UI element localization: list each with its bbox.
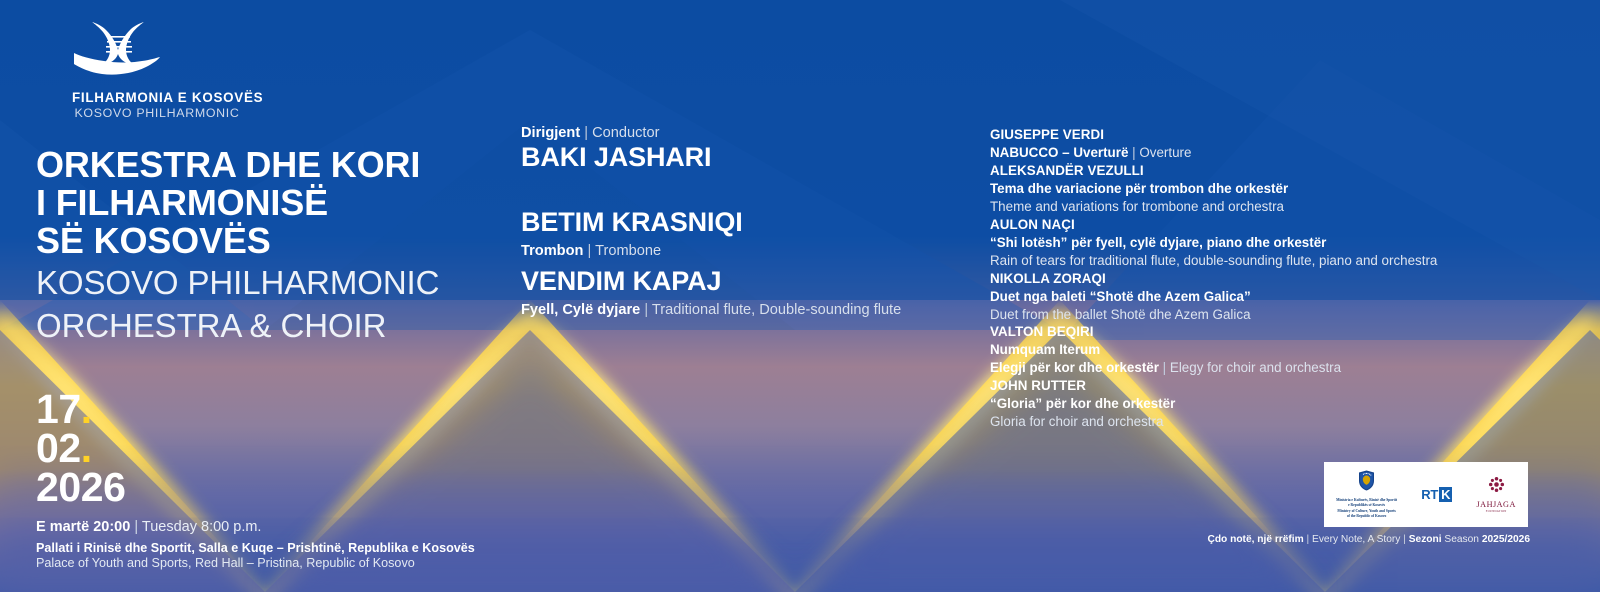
tagline-season-label: Sezoni	[1409, 534, 1442, 545]
program-composer-1: ALEKSANDËR VEZULLI	[990, 162, 1570, 180]
program-item: NIKOLLA ZORAQI Duet nga baleti “Shotë dh…	[990, 270, 1570, 324]
program-work-en-inline-0: Overture	[1139, 145, 1191, 160]
sponsor-ministry-text: Ministria e Kulturës, Rinisë dhe Sportit…	[1336, 498, 1397, 520]
kosovo-coat-of-arms-icon	[1358, 470, 1375, 496]
lyre-bird-icon	[72, 20, 242, 83]
program-inline-sep-5: |	[1163, 360, 1166, 375]
tagline-sep-1: |	[1307, 534, 1310, 545]
title-sq-line3: SË KOSOVËS	[36, 222, 506, 260]
brand-logo: FILHARMONIA E KOSOVËS KOSOVO PHILHARMONI…	[72, 20, 242, 120]
jahjaga-flower-icon	[1488, 476, 1505, 498]
sponsor-rtk-prefix: RT	[1421, 487, 1438, 502]
performer-role-sq-1: Trombon	[521, 243, 583, 259]
program-composer-3: NIKOLLA ZORAQI	[990, 270, 1570, 288]
performer-flute: VENDIM KAPAJ Fyell, Cylë dyjare | Tradit…	[521, 267, 981, 318]
venue-sq: Pallati i Rinisë dhe Sportit, Salla e Ku…	[36, 541, 506, 555]
performer-role-sq-2: Fyell, Cylë dyjare	[521, 302, 640, 318]
program-work-en-1: Theme and variations for trombone and or…	[990, 198, 1570, 216]
program-composer-4: VALTON BEQIRI	[990, 323, 1570, 341]
sponsor-ministry-line4: of the Republic of Kosovo	[1336, 514, 1397, 519]
performer-role-sep-1: |	[588, 243, 592, 259]
performers-column: Dirigjent | Conductor BAKI JASHARI BETIM…	[521, 125, 981, 320]
program-work-sq-3: Duet nga baleti “Shotë dhe Azem Galica”	[990, 288, 1570, 306]
program-composer-6: JOHN RUTTER	[990, 377, 1570, 395]
performer-role-0: Dirigjent | Conductor	[521, 125, 981, 141]
title-sq-line1: ORKESTRA DHE KORI	[36, 146, 506, 184]
performer-role-sq-0: Dirigjent	[521, 125, 580, 141]
program-work-title-5: Elegji për kor dhe orkestër	[990, 360, 1159, 375]
program-item: GIUSEPPE VERDI NABUCCO – Uverturë | Over…	[990, 126, 1570, 162]
tagline-season-en: Season	[1444, 534, 1479, 545]
title-sq-line2: I FILHARMONISË	[36, 184, 506, 222]
sponsor-rtk-logo: RTK	[1421, 487, 1452, 502]
date-day: 17.	[36, 390, 506, 429]
time-sq: E martë 20:00	[36, 519, 130, 535]
tagline-sep-2: |	[1403, 534, 1406, 545]
performer-role-en-0: Conductor	[592, 125, 659, 141]
tagline-sq: Çdo notë, një rrëfim	[1207, 534, 1303, 545]
program-work-title-0: NABUCCO – Uverturë	[990, 145, 1128, 160]
time-line: E martë 20:00 | Tuesday 8:00 p.m.	[36, 519, 506, 535]
time-separator: |	[134, 519, 138, 535]
sponsor-jahjaga-name: JAHJAGA	[1476, 500, 1515, 509]
performer-role-sep-0: |	[584, 125, 588, 141]
program-work-sq-1: Tema dhe variacione për trombon dhe orke…	[990, 180, 1570, 198]
brand-name-en: KOSOVO PHILHARMONIC	[72, 106, 242, 120]
performer-conductor: Dirigjent | Conductor BAKI JASHARI	[521, 125, 981, 172]
program-item: JOHN RUTTER “Gloria” për kor dhe orkestë…	[990, 377, 1570, 431]
date-year: 2026	[36, 468, 506, 507]
performer-trombone: BETIM KRASNIQI Trombon | Trombone	[521, 208, 981, 259]
performer-role-en-1: Trombone	[595, 243, 661, 259]
program-work-en-3: Duet from the ballet Shotë dhe Azem Gali…	[990, 306, 1570, 324]
performer-role-1: Trombon | Trombone	[521, 243, 981, 259]
performer-role-sep-2: |	[644, 302, 648, 318]
program-work-sq-5: Elegji për kor dhe orkestër | Elegy for …	[990, 359, 1570, 377]
brand-name-sq: FILHARMONIA E KOSOVËS	[72, 90, 242, 105]
performer-name-1: BETIM KRASNIQI	[521, 208, 981, 237]
poster-title: ORKESTRA DHE KORI I FILHARMONISË SË KOSO…	[36, 146, 506, 345]
tagline-season-value: 2025/2026	[1482, 534, 1530, 545]
sponsor-rtk: RTK	[1421, 487, 1452, 502]
program-item: VALTON BEQIRI Numquam Iterum	[990, 323, 1570, 359]
program-work-en-6: Gloria for choir and orchestra	[990, 413, 1570, 431]
venue-en: Palace of Youth and Sports, Red Hall – P…	[36, 556, 506, 570]
performer-name-0: BAKI JASHARI	[521, 143, 981, 172]
sponsor-jahjaga: JAHJAGA FOUNDATION	[1476, 476, 1515, 513]
program-inline-sep-0: |	[1132, 145, 1135, 160]
program-item: AULON NAÇI “Shi lotësh” për fyell, cylë …	[990, 216, 1570, 270]
program-work-sq-0: NABUCCO – Uverturë | Overture	[990, 144, 1570, 162]
sponsor-bar: Ministria e Kulturës, Rinisë dhe Sportit…	[1324, 462, 1528, 527]
program-work-sq-2: “Shi lotësh” për fyell, cylë dyjare, pia…	[990, 234, 1570, 252]
date-block: 17. 02. 2026 E martë 20:00 | Tuesday 8:0…	[36, 390, 506, 570]
sponsor-ministry: Ministria e Kulturës, Rinisë dhe Sportit…	[1336, 470, 1397, 520]
concert-poster: FILHARMONIA E KOSOVËS KOSOVO PHILHARMONI…	[0, 0, 1600, 592]
program-item: ALEKSANDËR VEZULLI Tema dhe variacione p…	[990, 162, 1570, 216]
program-composer-2: AULON NAÇI	[990, 216, 1570, 234]
title-en-line1: KOSOVO PHILHARMONIC	[36, 264, 506, 302]
date-month: 02.	[36, 429, 506, 468]
tagline-en: Every Note, A Story	[1312, 534, 1400, 545]
performer-name-2: VENDIM KAPAJ	[521, 267, 981, 296]
time-en: Tuesday 8:00 p.m.	[142, 519, 262, 535]
title-en-line2: ORCHESTRA & CHOIR	[36, 307, 506, 345]
left-column: FILHARMONIA E KOSOVËS KOSOVO PHILHARMONI…	[36, 20, 506, 345]
program-composer-0: GIUSEPPE VERDI	[990, 126, 1570, 144]
season-tagline: Çdo notë, një rrëfim | Every Note, A Sto…	[990, 534, 1530, 545]
sponsor-rtk-boxed: K	[1439, 487, 1452, 502]
program-work-en-inline-5: Elegy for choir and orchestra	[1170, 360, 1341, 375]
program-item: Elegji për kor dhe orkestër | Elegy for …	[990, 359, 1570, 377]
performer-role-en-2: Traditional flute, Double-sounding flute	[652, 302, 901, 318]
program-work-en-2: Rain of tears for traditional flute, dou…	[990, 252, 1570, 270]
program-column: GIUSEPPE VERDI NABUCCO – Uverturë | Over…	[990, 126, 1570, 431]
program-work-sq-6: “Gloria” për kor dhe orkestër	[990, 395, 1570, 413]
performer-role-2: Fyell, Cylë dyjare | Traditional flute, …	[521, 302, 981, 318]
program-work-sq-4: Numquam Iterum	[990, 341, 1570, 359]
sponsor-jahjaga-sub: FOUNDATION	[1486, 510, 1507, 513]
